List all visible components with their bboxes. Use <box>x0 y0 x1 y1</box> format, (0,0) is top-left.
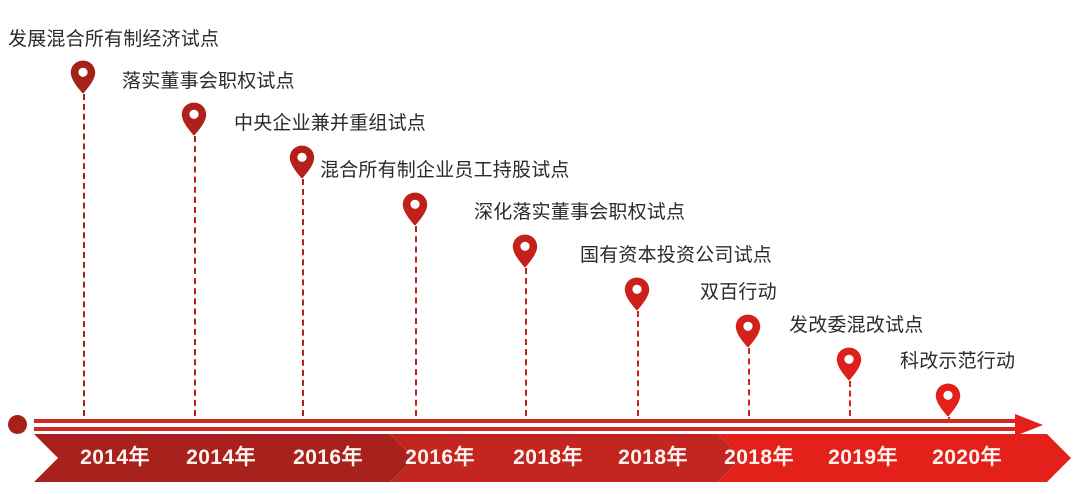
map-pin-icon[interactable] <box>624 277 650 311</box>
axis-line-bottom <box>34 427 1019 431</box>
map-pin-icon[interactable] <box>181 102 207 136</box>
milestone-stem <box>637 311 639 416</box>
axis-start-dot-icon <box>8 415 27 434</box>
milestone-stem <box>415 226 417 416</box>
map-pin-icon[interactable] <box>512 234 538 268</box>
milestone-label: 发展混合所有制经济试点 <box>8 30 219 49</box>
year-label: 2014年 <box>80 434 150 482</box>
map-pin-icon[interactable] <box>735 314 761 348</box>
milestone-label: 混合所有制企业员工持股试点 <box>320 161 570 180</box>
milestone-label: 国有资本投资公司试点 <box>580 246 772 265</box>
map-pin-icon[interactable] <box>289 145 315 179</box>
milestone-label: 科改示范行动 <box>900 352 1015 371</box>
year-label: 2018年 <box>513 434 583 482</box>
year-label: 2016年 <box>405 434 475 482</box>
map-pin-icon[interactable] <box>935 383 961 417</box>
map-pin-icon[interactable] <box>836 347 862 381</box>
milestone-stem <box>849 381 851 416</box>
milestone-stem <box>194 136 196 416</box>
year-label: 2014年 <box>186 434 256 482</box>
milestone-stem <box>748 348 750 416</box>
milestone-label: 双百行动 <box>700 283 777 302</box>
axis-arrow-icon <box>1015 414 1043 436</box>
milestone-label: 发改委混改试点 <box>789 316 923 335</box>
year-label: 2016年 <box>293 434 363 482</box>
milestone-label: 中央企业兼并重组试点 <box>234 114 426 133</box>
year-label: 2018年 <box>724 434 794 482</box>
year-label: 2020年 <box>932 434 1002 482</box>
year-label: 2018年 <box>618 434 688 482</box>
milestone-stem <box>302 179 304 416</box>
milestone-label: 落实董事会职权试点 <box>122 72 295 91</box>
map-pin-icon[interactable] <box>402 192 428 226</box>
year-label: 2019年 <box>828 434 898 482</box>
milestone-stem <box>525 268 527 416</box>
map-pin-icon[interactable] <box>70 60 96 94</box>
milestone-stem <box>83 94 85 416</box>
timeline-infographic: 发展混合所有制经济试点落实董事会职权试点中央企业兼并重组试点混合所有制企业员工持… <box>0 0 1080 494</box>
milestone-label: 深化落实董事会职权试点 <box>474 203 685 222</box>
timeline-axis <box>34 416 1062 432</box>
